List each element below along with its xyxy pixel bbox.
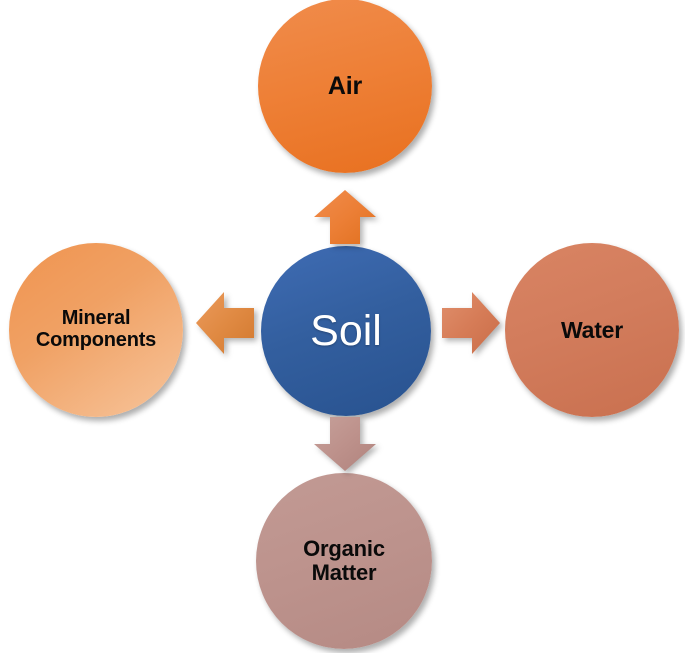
node-air[interactable]: Air: [258, 0, 432, 173]
arrow-down-icon: [314, 417, 376, 471]
node-mineral-components[interactable]: Mineral Components: [9, 243, 183, 417]
node-air-label: Air: [328, 73, 362, 100]
node-water[interactable]: Water: [505, 243, 679, 417]
node-organic-matter[interactable]: Organic Matter: [256, 473, 432, 649]
node-organic-matter-label: Organic Matter: [303, 537, 385, 585]
arrow-right-icon: [442, 292, 500, 354]
node-water-label: Water: [561, 318, 623, 343]
node-mineral-components-label-line2: Components: [36, 329, 156, 351]
arrow-left-icon: [196, 292, 254, 354]
node-organic-matter-label-line2: Matter: [312, 560, 377, 585]
node-organic-matter-label-line1: Organic: [303, 536, 385, 561]
soil-components-diagram: Air Mineral Components Soil Water Organi…: [0, 0, 685, 653]
node-mineral-components-label: Mineral Components: [36, 308, 156, 351]
node-soil-label: Soil: [310, 308, 382, 354]
node-soil[interactable]: Soil: [261, 246, 431, 416]
node-mineral-components-label-line1: Mineral: [62, 307, 131, 329]
arrow-up-icon: [314, 190, 376, 244]
